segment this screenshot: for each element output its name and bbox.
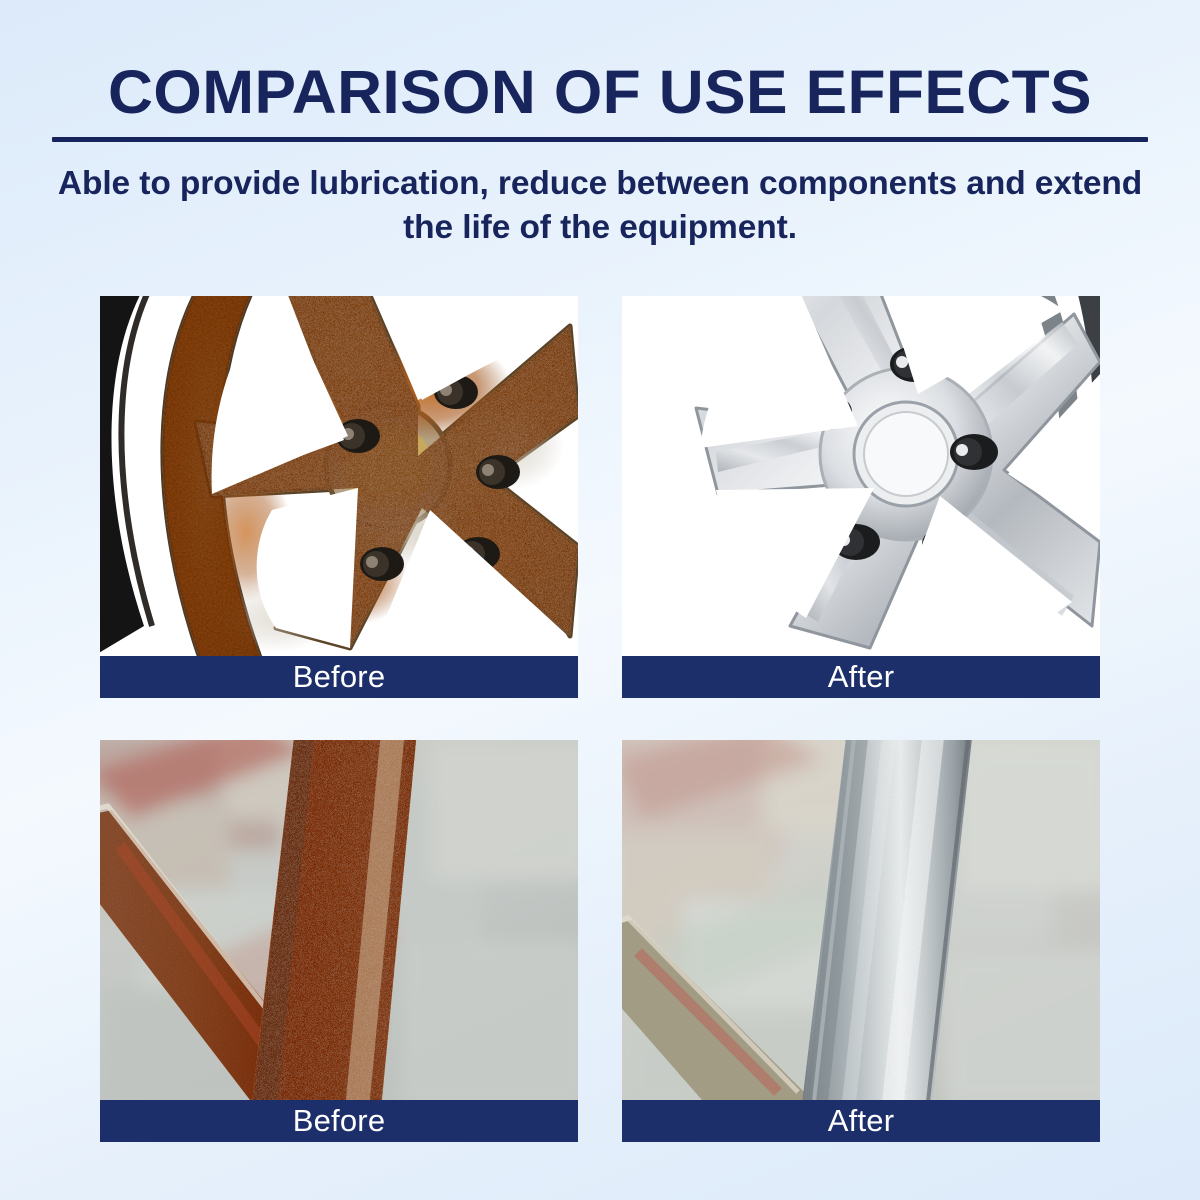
- comparison-row-pipes: Before: [100, 740, 1100, 1142]
- caption-label: After: [828, 661, 894, 694]
- card-wheel-after: After: [622, 296, 1100, 698]
- page-subtitle: Able to provide lubrication, reduce betw…: [50, 162, 1150, 250]
- photo-rusty-metal-pipe: [100, 740, 578, 1100]
- clean-pipe-illustration: [622, 740, 1100, 1100]
- comparison-row-wheels: Before: [100, 296, 1100, 698]
- card-pipe-after: After: [622, 740, 1100, 1142]
- clean-wheel-illustration: [622, 296, 1100, 656]
- photo-rusty-alloy-wheel: [100, 296, 578, 656]
- caption-bar-wheel-before: Before: [100, 656, 578, 698]
- caption-bar-pipe-before: Before: [100, 1100, 578, 1142]
- caption-label: Before: [293, 661, 386, 694]
- caption-label: Before: [293, 1105, 386, 1138]
- rusty-pipe-illustration: [100, 740, 578, 1100]
- photo-clean-alloy-wheel: [622, 296, 1100, 656]
- infographic-page: COMPARISON OF USE EFFECTS Able to provid…: [0, 0, 1200, 1200]
- card-pipe-before: Before: [100, 740, 578, 1142]
- caption-bar-wheel-after: After: [622, 656, 1100, 698]
- rusty-wheel-illustration: [100, 296, 578, 656]
- page-title: COMPARISON OF USE EFFECTS: [0, 62, 1200, 123]
- caption-label: After: [828, 1105, 894, 1138]
- caption-bar-pipe-after: After: [622, 1100, 1100, 1142]
- comparison-grid: Before: [100, 296, 1100, 1142]
- card-wheel-before: Before: [100, 296, 578, 698]
- photo-clean-metal-pipe: [622, 740, 1100, 1100]
- title-divider: [52, 137, 1148, 142]
- header: COMPARISON OF USE EFFECTS Able to provid…: [0, 0, 1200, 250]
